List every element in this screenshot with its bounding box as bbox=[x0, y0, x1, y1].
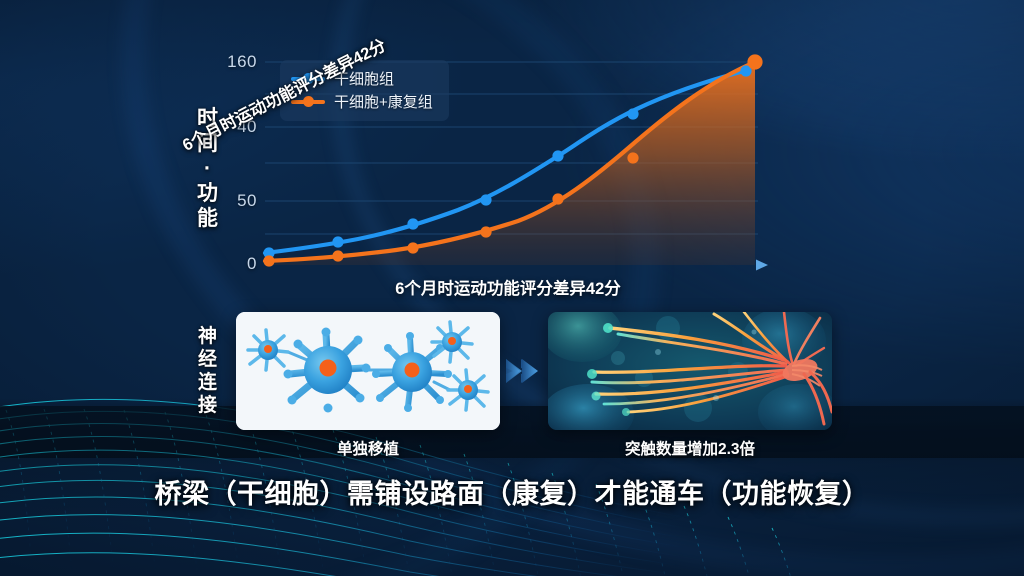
y-tick-label: 0 bbox=[247, 254, 257, 274]
y-tick-label: 50 bbox=[237, 191, 257, 211]
chart-x-axis-arrowhead bbox=[756, 260, 768, 271]
row-label-char: 接 bbox=[188, 394, 228, 417]
neuron-cell bbox=[284, 328, 371, 413]
legend-label: 干细胞+康复组 bbox=[334, 91, 433, 112]
infographic-slide: 时 间 · 功 能 bbox=[0, 0, 1024, 576]
row-label-char: 能 bbox=[188, 206, 228, 231]
row-label-char: · bbox=[188, 156, 228, 181]
caption-synapse-increase: 突触数量增加2.3倍 bbox=[548, 437, 832, 459]
y-tick-label: 160 bbox=[227, 52, 257, 72]
headline-text: 桥梁（干细胞）需铺设路面（康复）才能通车（功能恢复） bbox=[0, 472, 1024, 511]
row-label-char: 神 bbox=[188, 325, 228, 348]
row-label-char: 连 bbox=[188, 371, 228, 394]
row-label-char: 功 bbox=[188, 181, 228, 206]
panel-transplant-alone-image[interactable] bbox=[236, 312, 500, 430]
double-chevron-right-icon bbox=[504, 352, 548, 390]
row-label-char: 经 bbox=[188, 348, 228, 371]
caption-transplant-alone: 单独移植 bbox=[236, 437, 500, 459]
legend-item-stem-cell-plus-rehab[interactable]: 干细胞+康复组 bbox=[291, 90, 433, 113]
chart-x-axis-caption: 6个月时运动功能评分差异42分 bbox=[228, 275, 788, 299]
panel-synapse-increase-image[interactable] bbox=[548, 312, 832, 430]
row-label-neural-connection: 神 经 连 接 bbox=[188, 325, 228, 417]
